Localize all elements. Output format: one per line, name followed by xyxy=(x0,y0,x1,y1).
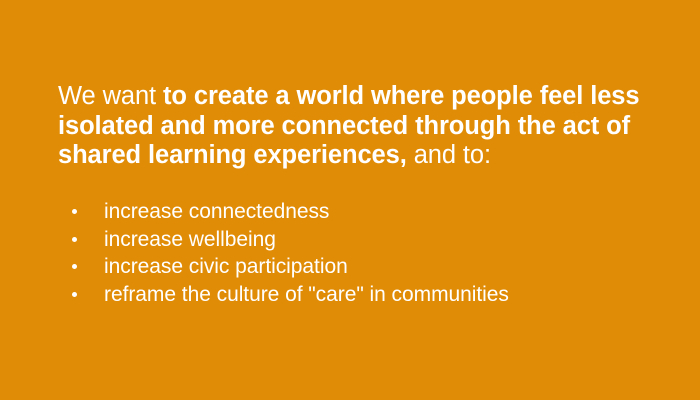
bullet-dot-icon xyxy=(72,237,77,242)
bullet-dot-icon xyxy=(72,264,77,269)
list-item: reframe the culture of "care" in communi… xyxy=(72,281,652,309)
bullet-dot-icon xyxy=(72,292,77,297)
headline-trail-text: and to: xyxy=(407,141,491,169)
list-item-label: increase wellbeing xyxy=(104,228,276,251)
list-item-label: reframe the culture of "care" in communi… xyxy=(104,283,509,306)
page-title: We want to create a world where people f… xyxy=(58,82,648,171)
list-item: increase civic participation xyxy=(72,253,652,281)
list-item: increase wellbeing xyxy=(72,226,652,254)
slide-canvas: We want to create a world where people f… xyxy=(0,0,700,400)
goals-list: increase connectedness increase wellbein… xyxy=(72,198,652,308)
list-item-label: increase civic participation xyxy=(104,255,348,278)
list-item: increase connectedness xyxy=(72,198,652,226)
headline-lead-text: We want xyxy=(58,82,163,110)
list-item-label: increase connectedness xyxy=(104,200,329,223)
slide-content: We want to create a world where people f… xyxy=(58,82,658,171)
bullet-dot-icon xyxy=(72,209,77,214)
